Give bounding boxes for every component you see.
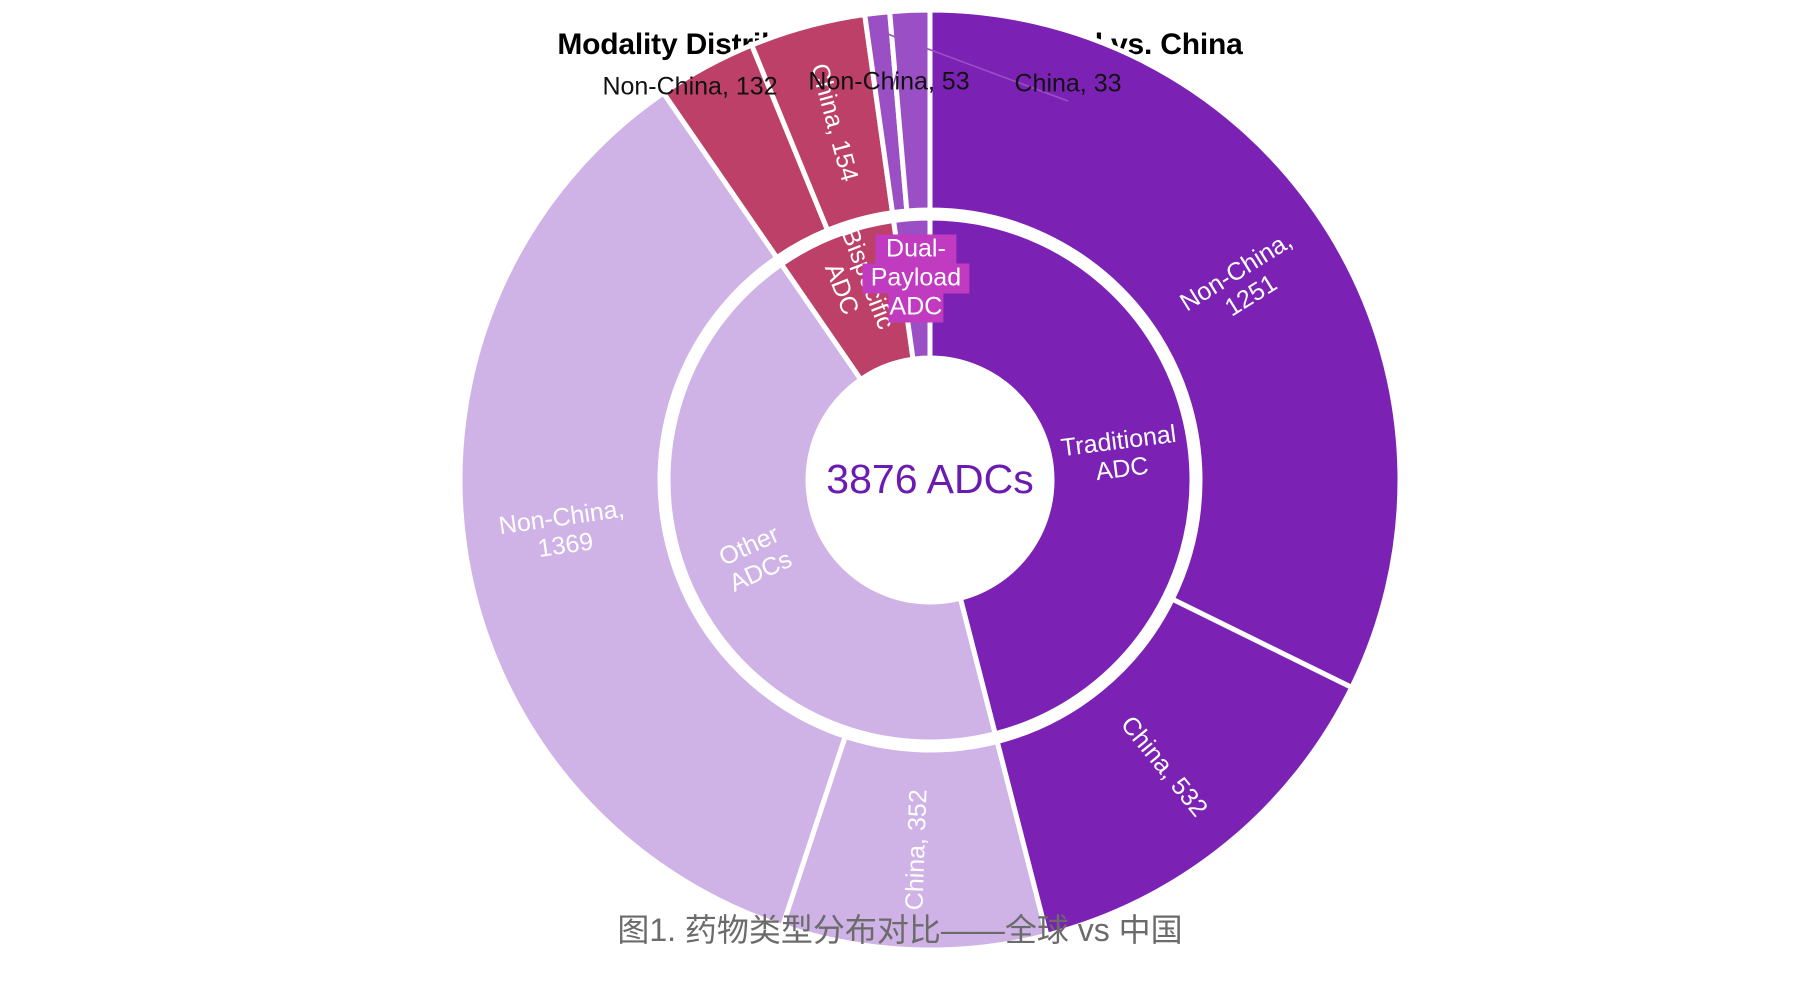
center-total-label: 3876 ADCs (826, 456, 1033, 502)
chart-canvas: Modality Distribution for Drugs: Global … (0, 0, 1800, 1000)
callout-dual-payload-non-china: Non-China, 53 (808, 68, 969, 96)
sunburst-chart: TraditionalADCOtherADCsBispecificADCDual… (0, 0, 1800, 1000)
callout-bispecific-non-china: Non-China, 132 (602, 73, 777, 101)
figure-caption: 图1. 药物类型分布对比——全球 vs 中国 (0, 905, 1800, 951)
outer-label-other-china: China, 352 (900, 789, 932, 911)
callout-dual-payload-china: China, 33 (1014, 70, 1121, 98)
